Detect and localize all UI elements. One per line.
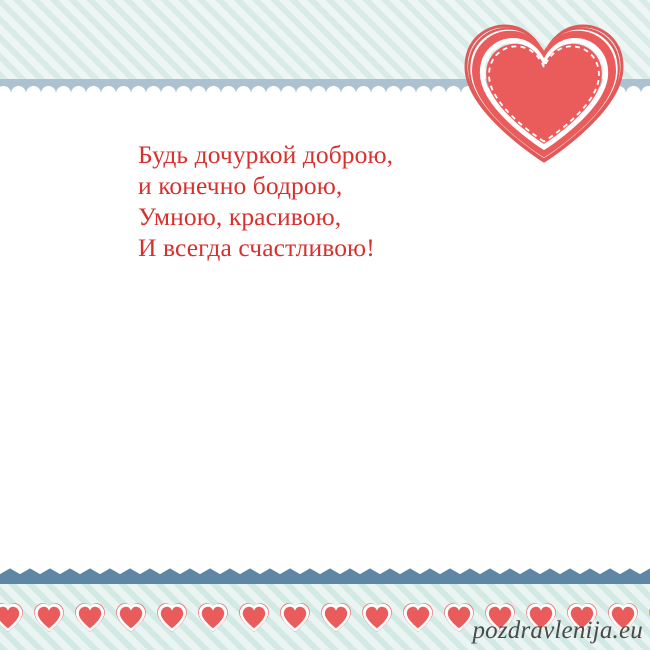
mini-heart-icon	[33, 602, 65, 633]
greeting-line-1: Будь дочуркой доброю,	[138, 139, 558, 170]
mini-heart-icon	[0, 602, 24, 633]
greeting-line-3: Умною, красивою,	[138, 201, 558, 232]
mini-heart-icon	[238, 602, 270, 633]
greeting-text: Будь дочуркой доброю, и конечно бодрою, …	[138, 139, 558, 263]
greeting-line-4: И всегда счастливою!	[138, 232, 558, 263]
greeting-card: Будь дочуркой доброю, и конечно бодрою, …	[0, 0, 650, 650]
mini-heart-icon	[443, 602, 475, 633]
mini-heart-icon	[197, 602, 229, 633]
mini-heart-icon	[115, 602, 147, 633]
bottom-zigzag-band	[0, 565, 650, 584]
mini-heart-icon	[361, 602, 393, 633]
mini-heart-icon	[156, 602, 188, 633]
watermark: pozdravlenija.eu	[472, 617, 643, 645]
greeting-line-2: и конечно бодрою,	[138, 170, 558, 201]
mini-heart-icon	[279, 602, 311, 633]
mini-heart-icon	[74, 602, 106, 633]
mini-heart-icon	[402, 602, 434, 633]
mini-heart-icon	[320, 602, 352, 633]
